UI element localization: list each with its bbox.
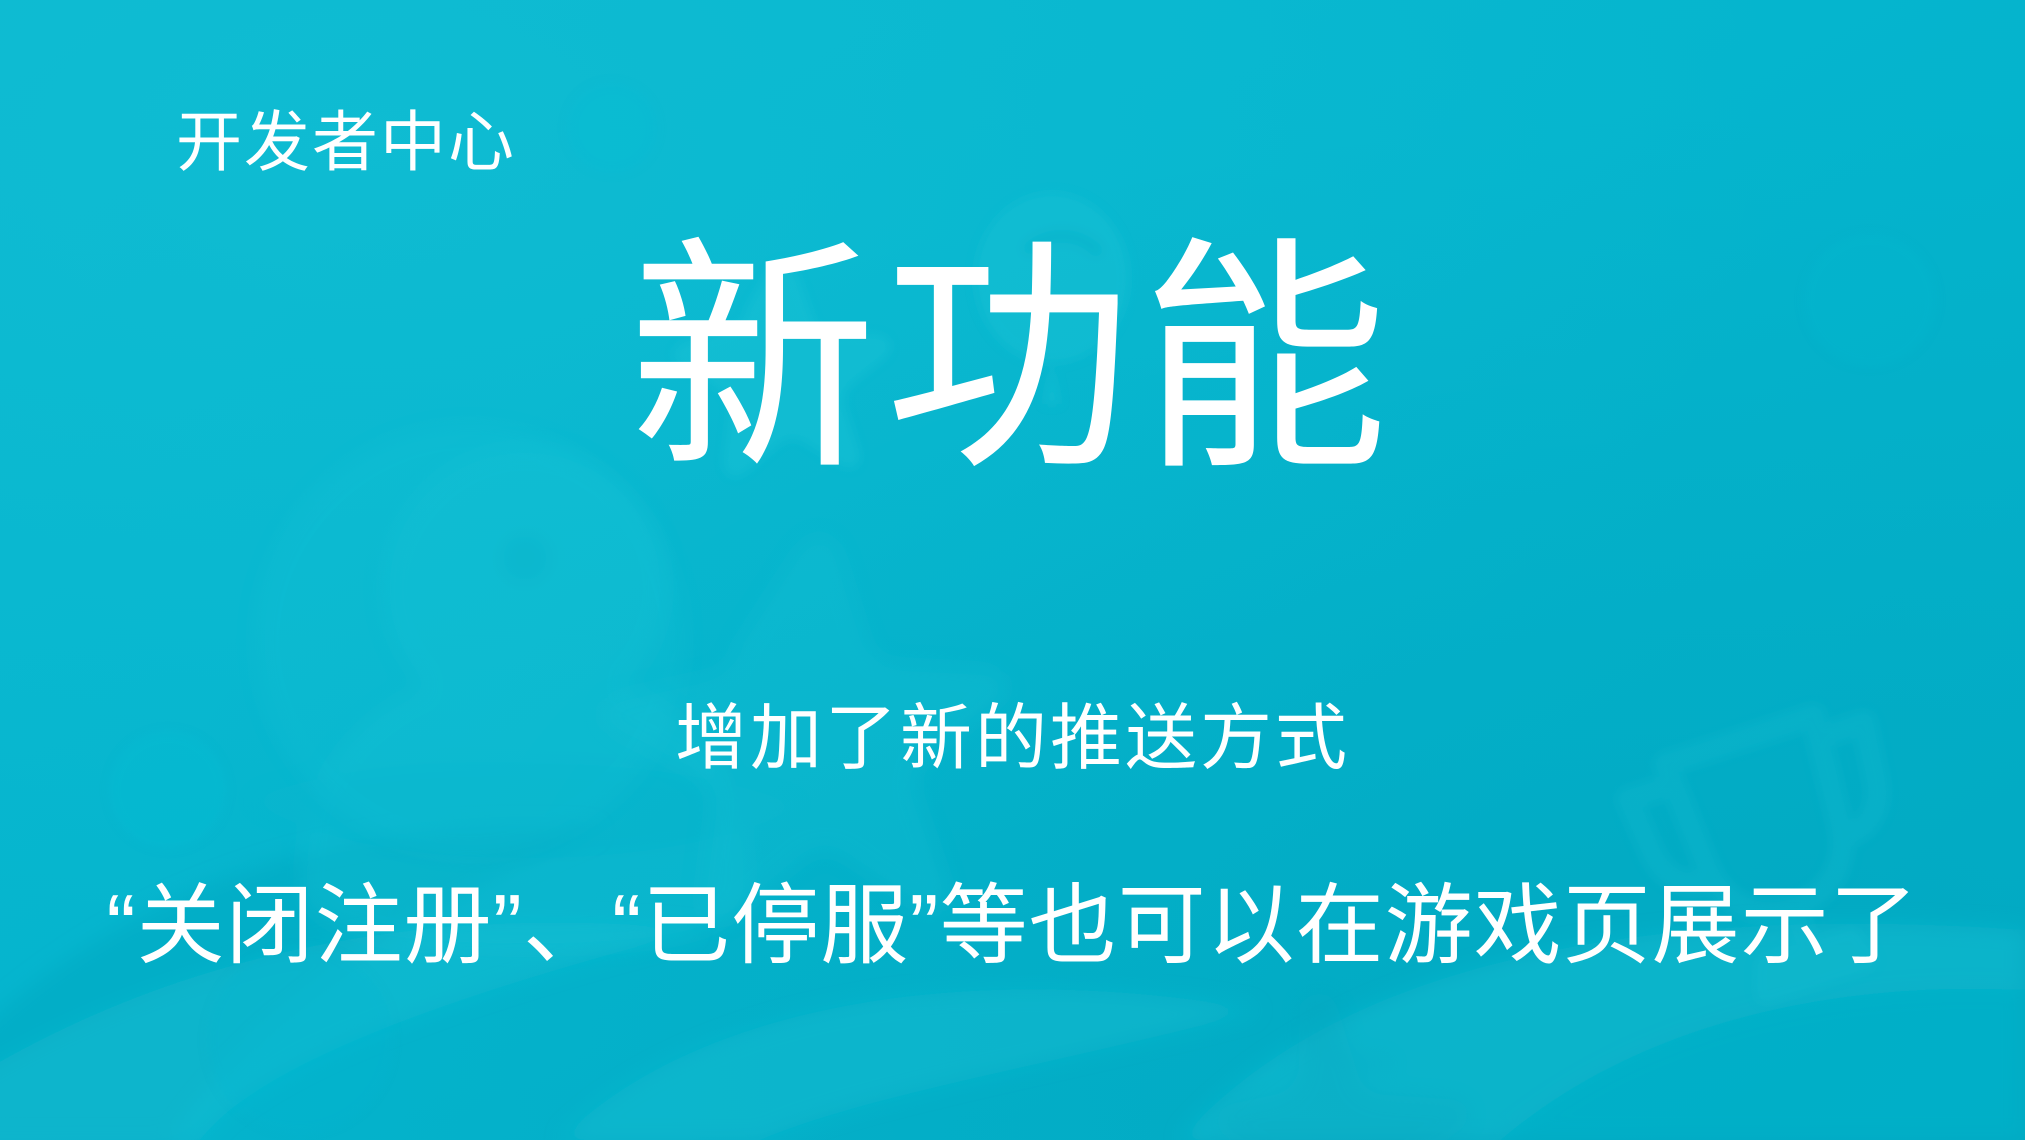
banner-content: 开发者中心 新功能 增加了新的推送方式 “关闭注册”、“已停服”等也可以在游戏页… <box>0 0 2025 1140</box>
banner-kicker: 开发者中心 <box>176 108 516 177</box>
promo-banner: 开发者中心 新功能 增加了新的推送方式 “关闭注册”、“已停服”等也可以在游戏页… <box>0 0 2025 1140</box>
banner-tagline: “关闭注册”、“已停服”等也可以在游戏页展示了 <box>0 878 2025 975</box>
banner-subtitle: 增加了新的推送方式 <box>0 700 2025 779</box>
banner-title: 新功能 <box>0 236 2025 484</box>
